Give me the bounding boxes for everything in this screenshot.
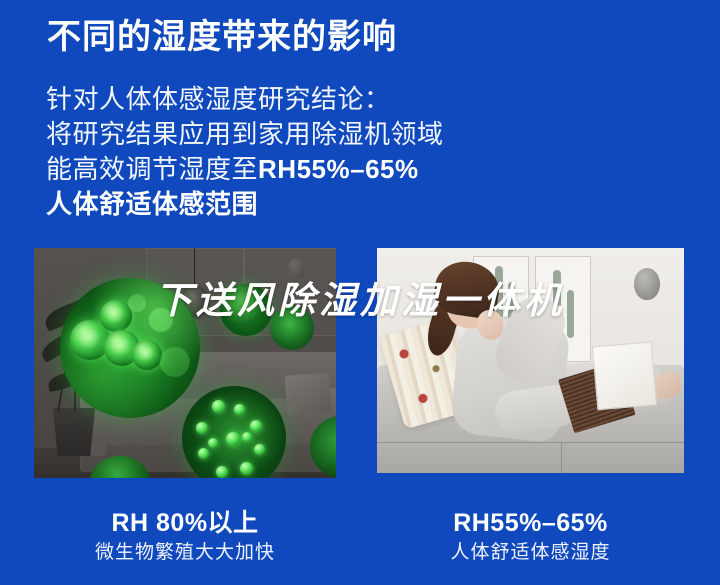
microbe-ball-4 bbox=[132, 340, 162, 370]
microbe-spike-1 bbox=[212, 400, 225, 413]
microbe-spike-2 bbox=[234, 404, 245, 415]
microbe-sphere-small bbox=[220, 284, 272, 336]
caption-left-headline: RH 80%以上 bbox=[34, 507, 336, 539]
microbe-spike-11 bbox=[242, 432, 252, 442]
humidity-range-highlight: RH55%–65% bbox=[258, 154, 419, 184]
caption-comfort-humidity: RH55%–65% 人体舒适体感湿度 bbox=[377, 507, 684, 567]
intro-line-2: 将研究结果应用到家用除湿机领域 bbox=[46, 117, 606, 152]
microbe-sphere-corner bbox=[270, 306, 314, 350]
microbe-ball-3 bbox=[104, 330, 140, 366]
microbe-spike-5 bbox=[240, 462, 253, 475]
microbe-spike-6 bbox=[216, 466, 228, 478]
microbe-spike-9 bbox=[226, 432, 240, 446]
intro-line-1: 针对人体体感湿度研究结论： bbox=[46, 82, 606, 117]
right-photo-book-page bbox=[592, 341, 657, 410]
intro-line-4: 人体舒适体感范围 bbox=[46, 187, 606, 222]
photo-comfortable-humidity bbox=[377, 248, 684, 473]
microbe-ball-1 bbox=[70, 320, 110, 360]
caption-left-subline: 微生物繁殖大大加快 bbox=[34, 539, 336, 567]
intro-line-3-text: 能高效调节湿度至 bbox=[46, 154, 258, 184]
microbe-ball-2 bbox=[100, 300, 132, 332]
microbe-cluster-large bbox=[60, 278, 200, 418]
microbe-spike-10 bbox=[208, 438, 218, 448]
left-photo-cushion bbox=[284, 372, 331, 416]
microbe-spike-3 bbox=[250, 420, 262, 432]
intro-paragraph: 针对人体体感湿度研究结论： 将研究结果应用到家用除湿机领域 能高效调节湿度至RH… bbox=[46, 82, 606, 222]
right-photo-open-book bbox=[556, 342, 663, 434]
humidity-infographic-poster: 不同的湿度带来的影响 针对人体体感湿度研究结论： 将研究结果应用到家用除湿机领域… bbox=[0, 0, 720, 585]
intro-line-3: 能高效调节湿度至RH55%–65% bbox=[46, 152, 606, 187]
left-photo-wall-knob bbox=[288, 258, 305, 279]
caption-right-headline: RH55%–65% bbox=[377, 507, 684, 539]
microbe-spike-8 bbox=[196, 422, 208, 434]
caption-high-humidity: RH 80%以上 微生物繁殖大大加快 bbox=[34, 507, 336, 567]
left-photo-plant-pot bbox=[50, 408, 98, 456]
microbe-spike-7 bbox=[198, 448, 209, 459]
right-photo-woman bbox=[377, 248, 684, 473]
caption-right-subline: 人体舒适体感湿度 bbox=[377, 539, 684, 567]
microbe-spike-4 bbox=[254, 444, 265, 455]
photo-high-humidity-microbes bbox=[34, 248, 336, 478]
page-title: 不同的湿度带来的影响 bbox=[47, 14, 397, 60]
